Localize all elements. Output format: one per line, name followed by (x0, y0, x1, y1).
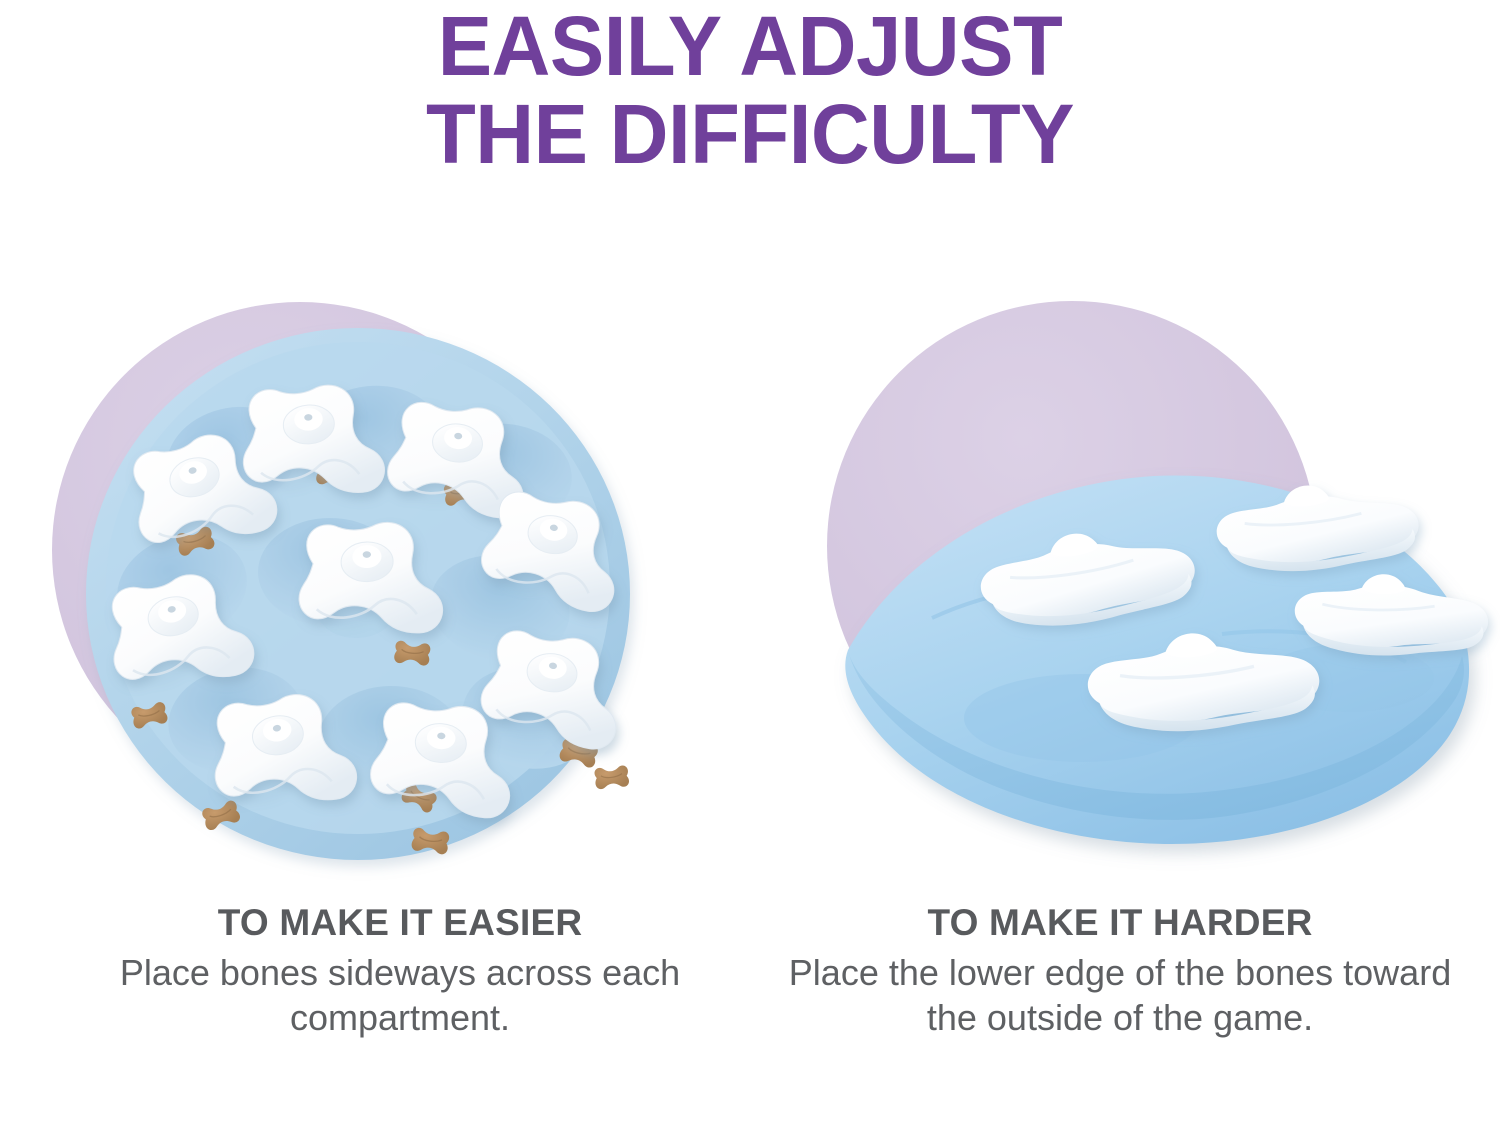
panel-easier (0, 288, 752, 888)
caption-easier-title: TO MAKE IT EASIER (40, 900, 760, 945)
product-photo-easier (0, 288, 752, 888)
puzzle-top-view-illustration (0, 288, 752, 888)
caption-harder-title: TO MAKE IT HARDER (760, 900, 1480, 945)
caption-easier-body: Place bones sideways across each compart… (40, 950, 760, 1040)
caption-harder-body: Place the lower edge of the bones toward… (760, 950, 1480, 1040)
puzzle-angle-view-illustration (752, 288, 1500, 888)
page-title-line-2: THE DIFFICULTY (23, 90, 1478, 178)
caption-harder: TO MAKE IT HARDER Place the lower edge o… (760, 900, 1480, 1040)
product-photo-harder (752, 288, 1500, 888)
infographic-page: EASILY ADJUST THE DIFFICULTY (0, 0, 1500, 1125)
page-title: EASILY ADJUST THE DIFFICULTY (0, 2, 1500, 178)
caption-easier: TO MAKE IT EASIER Place bones sideways a… (40, 900, 760, 1040)
panel-harder (752, 288, 1500, 888)
page-title-line-1: EASILY ADJUST (23, 2, 1478, 90)
